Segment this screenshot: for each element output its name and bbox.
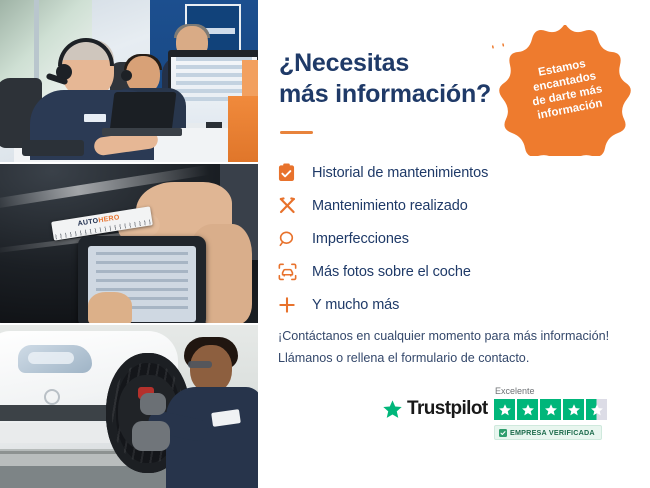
magnifier-glyph (278, 230, 296, 248)
car-photo-frame-glyph (278, 263, 297, 281)
content-panel: ¿Necesitas más información? Estamos enca… (258, 0, 650, 488)
thumb (88, 292, 132, 323)
feature-item-label: Más fotos sobre el coche (312, 264, 471, 280)
laptop (104, 92, 178, 136)
mechanic-wheel-photo (0, 325, 258, 488)
verified-company-label: EMPRESA VERIFICADA (510, 428, 595, 437)
clipboard-check-icon (278, 161, 312, 185)
safety-glasses (188, 361, 212, 368)
contact-line-1: ¡Contáctanos en cualquier momento para m… (278, 326, 628, 348)
orange-panel (228, 96, 258, 162)
verified-company-badge: EMPRESA VERIFICADA (494, 425, 602, 440)
trustpilot-widget[interactable]: Trustpilot Excelente EMPRESA VERIFICADA (382, 386, 632, 450)
head (190, 345, 232, 393)
glove (132, 421, 170, 451)
feature-item-maintenance-history: Historial de mantenimientos (278, 156, 638, 189)
trustpilot-wordmark: Trustpilot (407, 398, 488, 420)
star-2 (517, 399, 538, 420)
title-underline (280, 131, 313, 134)
mechanic (166, 339, 258, 488)
feature-item-imperfections: Imperfecciones (278, 222, 638, 255)
car-inspection-ruler-photo: AUTOHERO (0, 164, 258, 323)
grille (0, 405, 116, 421)
laptop-lid (110, 92, 177, 132)
verified-check-icon (499, 429, 507, 437)
car-photo-frame-icon (278, 260, 312, 284)
call-center-agents-photo (0, 0, 258, 162)
trustpilot-rating-label: Excelente (495, 386, 535, 396)
tools-cross-glyph (278, 196, 297, 215)
trustpilot-logo: Trustpilot (382, 398, 488, 420)
feature-item-label: Mantenimiento realizado (312, 198, 468, 214)
headset-icon (487, 33, 507, 53)
photo-column: AUTOHERO (0, 0, 258, 488)
feature-item-more-photos: Más fotos sobre el coche (278, 255, 638, 288)
tools-cross-icon (278, 194, 312, 218)
feature-item-much-more: Y mucho más (278, 288, 638, 321)
headlight (18, 345, 92, 373)
star-5-half (586, 399, 607, 420)
plus-glyph (278, 296, 296, 314)
star-4 (563, 399, 584, 420)
magnifier-icon (278, 227, 312, 251)
desk-tablet (22, 140, 84, 156)
clipboard-check-glyph (278, 163, 295, 182)
contact-line-2: Llámanos o rellena el formulario de cont… (278, 348, 628, 370)
car-emblem (44, 389, 60, 405)
feature-list: Historial de mantenimientos Mantenimient… (278, 156, 638, 321)
support-badge: Estamos encantados de darte más informac… (499, 22, 633, 156)
info-promo-card: AUTOHERO (0, 0, 650, 488)
trustpilot-stars (494, 399, 607, 420)
page-title-line-2: más información? (279, 79, 519, 110)
trustpilot-star-icon (382, 399, 403, 420)
feature-item-maintenance-done: Mantenimiento realizado (278, 189, 638, 222)
feature-item-label: Imperfecciones (312, 231, 409, 247)
name-badge (84, 114, 106, 122)
plus-icon (278, 293, 312, 317)
feature-item-label: Y mucho más (312, 297, 399, 313)
ruler-brand-a: AUTO (77, 218, 99, 228)
page-title-line-1: ¿Necesitas (279, 48, 519, 79)
star-3 (540, 399, 561, 420)
ruler-brand-b: HERO (98, 214, 120, 224)
support-badge-text: Estamos encantados de darte más informac… (506, 51, 627, 127)
contact-text: ¡Contáctanos en cualquier momento para m… (278, 326, 628, 369)
headset-band (58, 38, 114, 66)
star-1 (494, 399, 515, 420)
feature-item-label: Historial de mantenimientos (312, 165, 488, 181)
glove-upper (140, 393, 166, 415)
laptop-base (102, 128, 182, 136)
page-title: ¿Necesitas más información? (279, 48, 519, 110)
support-badge-content: Estamos encantados de darte más informac… (487, 10, 644, 167)
